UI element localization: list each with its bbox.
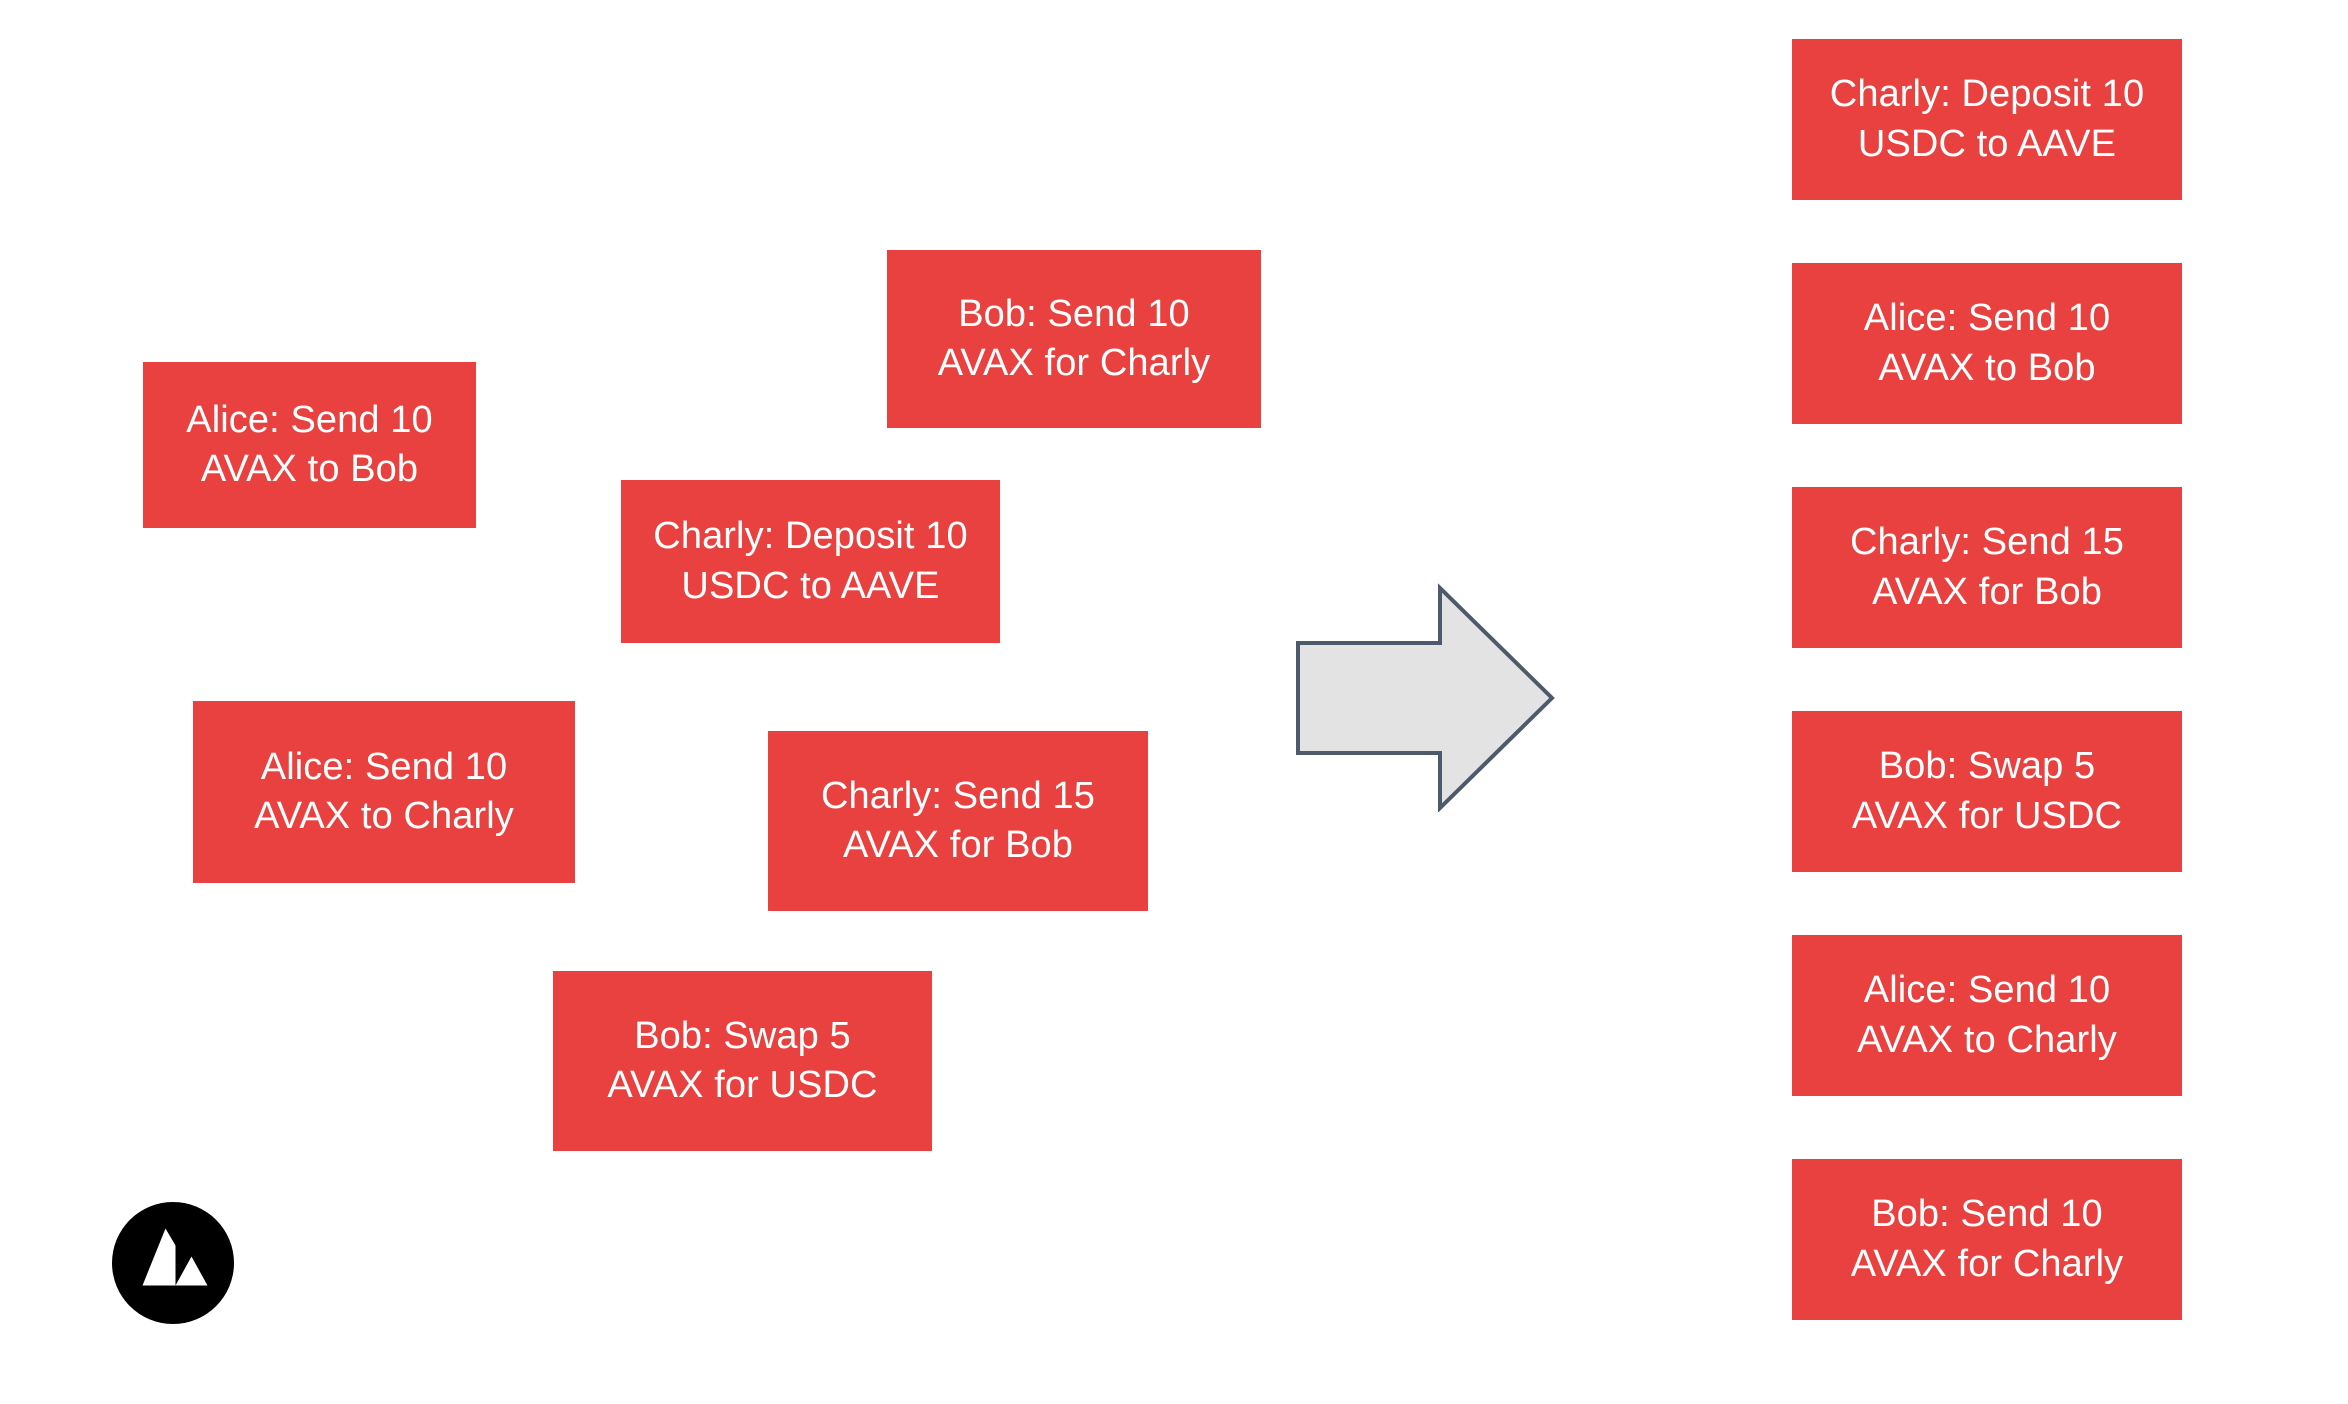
mempool-transaction-box[interactable]: Charly: Deposit 10 USDC to AAVE <box>621 480 1000 643</box>
mempool-transaction-label: Alice: Send 10 AVAX to Bob <box>186 396 432 495</box>
ordered-transaction-label: Charly: Send 15 AVAX for Bob <box>1850 518 2124 617</box>
mempool-transaction-label: Bob: Swap 5 AVAX for USDC <box>607 1012 877 1111</box>
mempool-transaction-label: Charly: Send 15 AVAX for Bob <box>821 772 1095 871</box>
mempool-transaction-box[interactable]: Alice: Send 10 AVAX to Charly <box>193 701 575 883</box>
mempool-transaction-label: Charly: Deposit 10 USDC to AAVE <box>653 512 967 611</box>
mempool-transaction-label: Bob: Send 10 AVAX for Charly <box>938 290 1211 389</box>
ordered-transaction-box[interactable]: Bob: Swap 5 AVAX for USDC <box>1792 711 2182 872</box>
ordered-transaction-label: Alice: Send 10 AVAX to Charly <box>1857 966 2117 1065</box>
ordered-transaction-box[interactable]: Bob: Send 10 AVAX for Charly <box>1792 1159 2182 1320</box>
ordered-transaction-column: Charly: Deposit 10 USDC to AAVE Alice: S… <box>1792 39 2182 1390</box>
ordered-transaction-label: Alice: Send 10 AVAX to Bob <box>1864 294 2110 393</box>
ordered-transaction-box[interactable]: Charly: Deposit 10 USDC to AAVE <box>1792 39 2182 200</box>
ordered-transaction-label: Bob: Send 10 AVAX for Charly <box>1851 1190 2124 1289</box>
avalanche-logo <box>112 1202 234 1324</box>
mempool-transaction-box[interactable]: Charly: Send 15 AVAX for Bob <box>768 731 1148 911</box>
ordered-transaction-label: Bob: Swap 5 AVAX for USDC <box>1852 742 2122 841</box>
ordered-transaction-label: Charly: Deposit 10 USDC to AAVE <box>1830 70 2144 169</box>
ordered-transaction-box[interactable]: Alice: Send 10 AVAX to Charly <box>1792 935 2182 1096</box>
right-arrow-icon <box>1290 582 1560 812</box>
mempool-transaction-box[interactable]: Bob: Swap 5 AVAX for USDC <box>553 971 932 1151</box>
mempool-transaction-box[interactable]: Bob: Send 10 AVAX for Charly <box>887 250 1261 428</box>
diagram-canvas: Alice: Send 10 AVAX to Bob Bob: Send 10 … <box>0 0 2348 1404</box>
mempool-transaction-label: Alice: Send 10 AVAX to Charly <box>254 743 514 842</box>
ordered-transaction-box[interactable]: Alice: Send 10 AVAX to Bob <box>1792 263 2182 424</box>
mempool-transaction-box[interactable]: Alice: Send 10 AVAX to Bob <box>143 362 476 528</box>
ordered-transaction-box[interactable]: Charly: Send 15 AVAX for Bob <box>1792 487 2182 648</box>
